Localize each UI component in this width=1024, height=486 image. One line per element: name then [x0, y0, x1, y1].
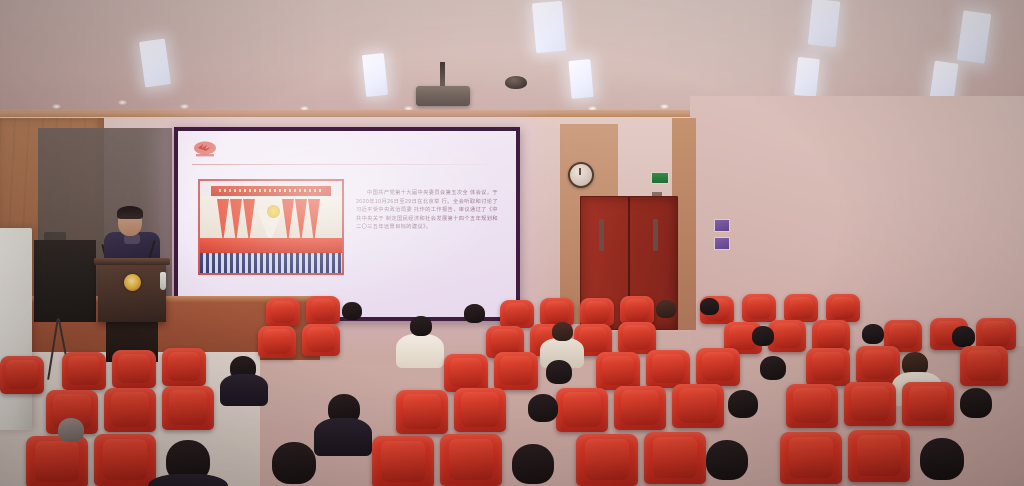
photo-flag-icon: [243, 199, 255, 243]
presenter-hair: [117, 206, 143, 219]
party-emblem-logo-icon: [192, 140, 218, 159]
auditorium-seat[interactable]: [580, 298, 614, 326]
attendee-head: [272, 442, 316, 484]
downlight-icon: [660, 104, 669, 109]
auditorium-seat[interactable]: [104, 388, 156, 432]
attendee-head: [528, 394, 558, 422]
downlight-icon: [118, 100, 127, 105]
attendee-head: [58, 418, 84, 442]
auditorium-seat[interactable]: [440, 434, 502, 486]
attendee-head: [552, 322, 573, 341]
panel-light-icon: [568, 59, 593, 99]
auditorium-seat[interactable]: [784, 294, 818, 322]
auditorium-seat[interactable]: [780, 432, 842, 484]
auditorium-seat[interactable]: [620, 296, 654, 324]
panel-light-icon: [362, 53, 388, 97]
panel-light-icon: [532, 1, 566, 53]
attendee-head: [760, 356, 786, 380]
exit-sign-icon: [651, 172, 669, 184]
auditorium-seat[interactable]: [0, 356, 44, 394]
wall-clock-icon: [568, 162, 594, 188]
attendee-shoulders: [314, 418, 372, 456]
auditorium-seat[interactable]: [62, 352, 106, 390]
attendee-head: [464, 304, 485, 323]
auditorium-seat[interactable]: [844, 382, 896, 426]
auditorium-seat[interactable]: [258, 326, 296, 358]
auditorium-seat[interactable]: [556, 388, 608, 432]
auditorium-seat[interactable]: [306, 296, 340, 324]
attendee-head: [862, 324, 884, 344]
attendee-head: [952, 326, 975, 347]
auditorium-seat[interactable]: [826, 294, 860, 322]
national-emblem-icon: [124, 274, 141, 291]
auditorium-seat[interactable]: [302, 324, 340, 356]
ceiling-speaker-icon: [505, 76, 527, 89]
auditorium-seat[interactable]: [742, 294, 776, 322]
attendee-head: [410, 316, 432, 336]
auditorium-seat[interactable]: [112, 350, 156, 388]
door-vision-panel: [599, 219, 604, 251]
auditorium-seat[interactable]: [94, 434, 156, 486]
wall-placard-icon: [714, 237, 730, 250]
auditorium-seat[interactable]: [162, 348, 206, 386]
auditorium-seat[interactable]: [696, 348, 740, 386]
auditorium-seat[interactable]: [444, 354, 488, 392]
auditorium-seat[interactable]: [500, 300, 534, 328]
photo-flag-icon: [217, 199, 229, 243]
auditorium-scene: 中国共产党第十九届中央委员会第五次全 体会议，于2020年10月26日至29日在…: [0, 0, 1024, 486]
attendee-shoulders: [220, 374, 268, 406]
auditorium-seat[interactable]: [26, 436, 88, 486]
photo-flag-icon: [308, 199, 320, 243]
photo-party-emblem-icon: [267, 205, 280, 218]
auditorium-seat[interactable]: [786, 384, 838, 428]
auditorium-seat[interactable]: [576, 434, 638, 486]
panel-light-icon: [808, 0, 841, 47]
audience-seating-area: [0, 290, 1024, 486]
auditorium-seat[interactable]: [162, 386, 214, 430]
projector-icon: [416, 86, 470, 106]
downlight-icon: [180, 104, 189, 109]
attendee-head: [706, 440, 748, 480]
auditorium-seat[interactable]: [806, 348, 850, 386]
photo-banner: [211, 186, 330, 196]
wall-placard-icon: [714, 219, 730, 232]
auditorium-seat[interactable]: [266, 298, 300, 326]
slide-divider-rule: [192, 164, 500, 165]
auditorium-seat[interactable]: [644, 432, 706, 484]
auditorium-seat[interactable]: [902, 382, 954, 426]
attendee-shoulders: [396, 334, 444, 368]
auditorium-seat[interactable]: [454, 388, 506, 432]
water-bottle-icon: [160, 272, 166, 290]
auditorium-seat[interactable]: [596, 352, 640, 390]
auditorium-seat[interactable]: [848, 430, 910, 482]
auditorium-seat[interactable]: [372, 436, 434, 486]
auditorium-seat[interactable]: [646, 350, 690, 388]
door-vision-panel: [653, 219, 658, 251]
attendee-head: [752, 326, 774, 346]
attendee-head: [960, 388, 992, 418]
auditorium-seat[interactable]: [614, 386, 666, 430]
photo-stage-front: [200, 238, 342, 253]
attendee-head: [342, 302, 362, 320]
projector-mount-arm: [440, 62, 445, 88]
photo-delegate-seating: [200, 253, 342, 273]
photo-flag-icon: [230, 199, 242, 243]
attendee-head: [700, 298, 719, 315]
downlight-icon: [52, 104, 61, 109]
auditorium-seat[interactable]: [494, 352, 538, 390]
attendee-head: [920, 438, 964, 480]
auditorium-seat[interactable]: [960, 346, 1008, 386]
auditorium-seat[interactable]: [672, 384, 724, 428]
attendee-head: [546, 360, 572, 384]
auditorium-seat[interactable]: [396, 390, 448, 434]
panel-light-icon: [794, 57, 820, 97]
attendee-head: [656, 300, 676, 318]
slide-line: 二〇三五年远景目标的建议》。: [356, 224, 432, 230]
photo-flag-icon: [282, 199, 294, 243]
slide-photo: [198, 179, 344, 275]
auditorium-seat[interactable]: [618, 322, 656, 354]
slide-line: 中国共产党第十九届中央委员会第五次全: [367, 190, 468, 196]
photo-flag-icon: [295, 199, 307, 243]
lectern-top: [94, 258, 170, 265]
slide-line: 制定国民经济和社会发展第十四个五年规划和: [386, 216, 498, 222]
attendee-shoulders: [148, 474, 228, 486]
attendee-head: [728, 390, 758, 418]
slide-body-text: 中国共产党第十九届中央委员会第五次全 体会议，于2020年10月26日至29日在…: [356, 189, 498, 232]
attendee-head: [512, 444, 554, 484]
